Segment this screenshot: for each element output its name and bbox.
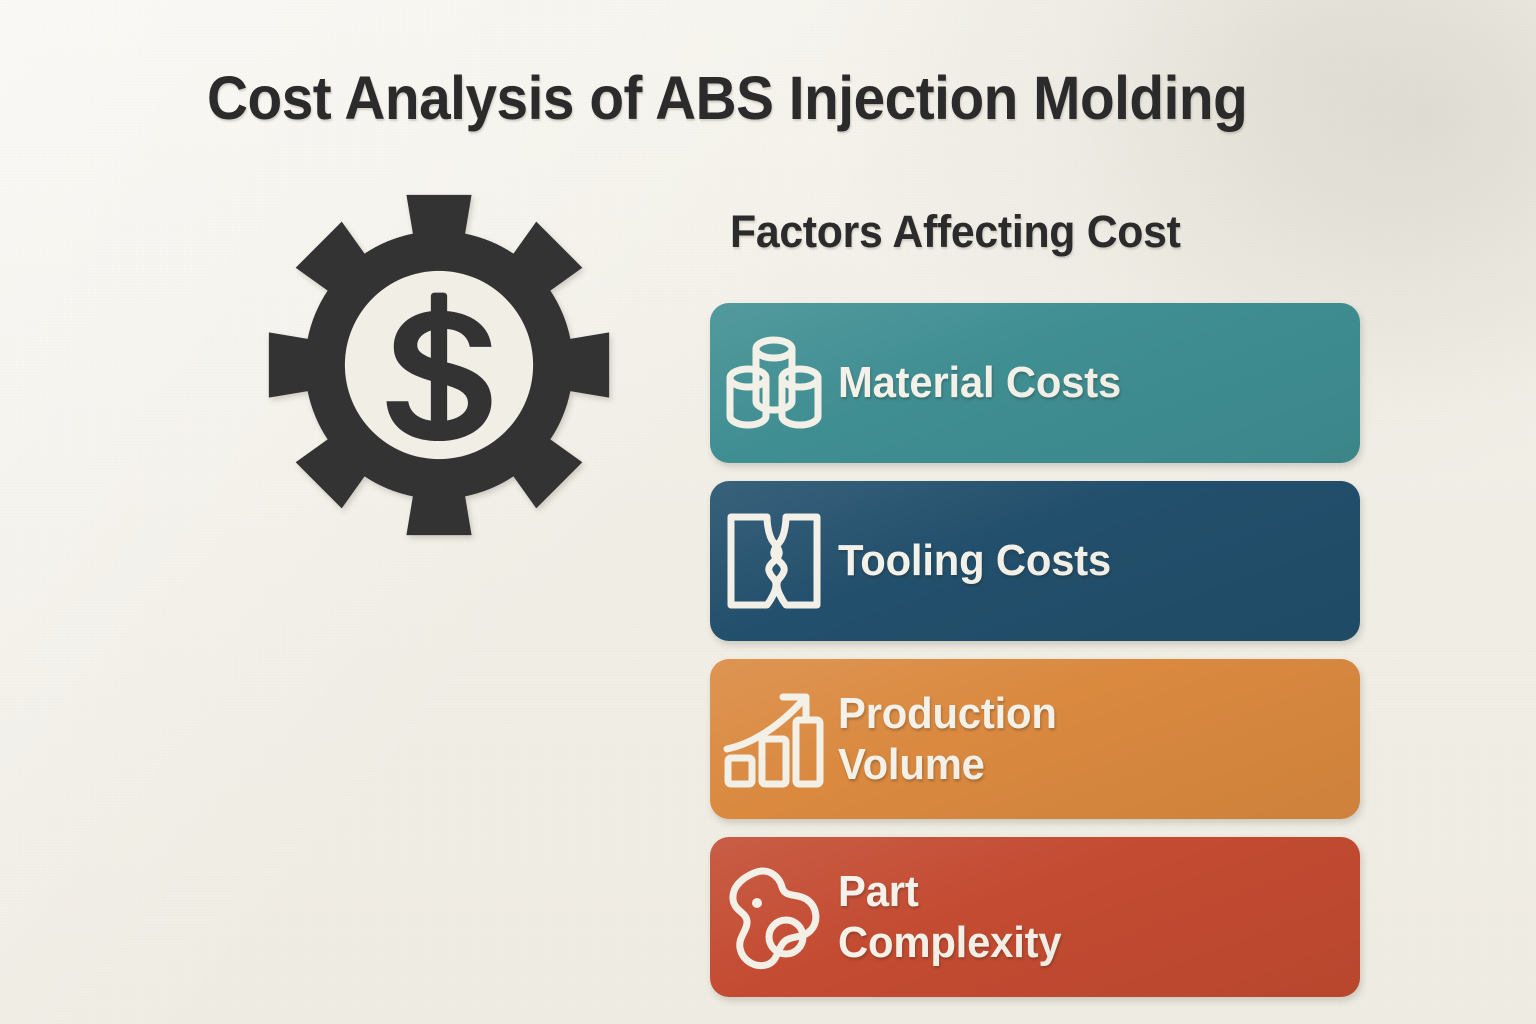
page-title: Cost Analysis of ABS Injection Molding bbox=[207, 68, 1286, 129]
factor-label: Production Volume bbox=[838, 688, 1334, 790]
factor-card-material-costs[interactable]: Material Costs bbox=[710, 303, 1360, 463]
complex-part-blob-icon bbox=[710, 863, 838, 971]
factor-label: Part Complexity bbox=[838, 866, 1334, 968]
factor-label: Tooling Costs bbox=[838, 535, 1334, 586]
section-heading-factors: Factors Affecting Cost bbox=[730, 209, 1181, 254]
growth-bar-chart-arrow-icon bbox=[710, 686, 838, 792]
factor-card-production-volume[interactable]: Production Volume bbox=[710, 659, 1360, 819]
factor-card-part-complexity[interactable]: Part Complexity bbox=[710, 837, 1360, 997]
infographic-poster: Cost Analysis of ABS Injection Molding F… bbox=[0, 0, 1536, 1024]
mold-halves-icon bbox=[710, 509, 838, 613]
gear-with-dollar-sign-icon bbox=[258, 182, 620, 548]
factor-label: Material Costs bbox=[838, 357, 1334, 408]
plastic-pellet-cylinders-icon bbox=[710, 331, 838, 435]
factor-card-tooling-costs[interactable]: Tooling Costs bbox=[710, 481, 1360, 641]
factor-card-list: Material Costs Tooling Costs bbox=[710, 303, 1360, 997]
